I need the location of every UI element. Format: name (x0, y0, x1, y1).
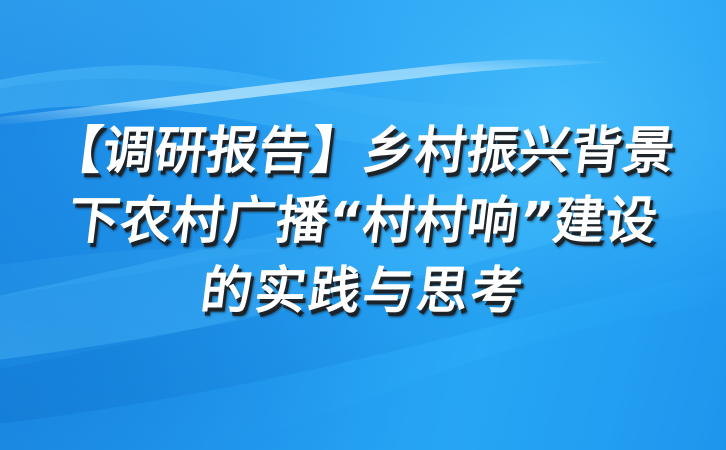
title-line-2: 下农村广播“村村响”建设 (0, 187, 726, 257)
title-line-3: 的实践与思考 (0, 257, 726, 327)
title-line-1: 【调研报告】乡村振兴背景 (0, 117, 726, 187)
page-title: 【调研报告】乡村振兴背景 下农村广播“村村响”建设 的实践与思考 (0, 117, 726, 327)
title-banner: 【调研报告】乡村振兴背景 下农村广播“村村响”建设 的实践与思考 (0, 0, 726, 450)
wave-highlight-streak (0, 59, 610, 126)
